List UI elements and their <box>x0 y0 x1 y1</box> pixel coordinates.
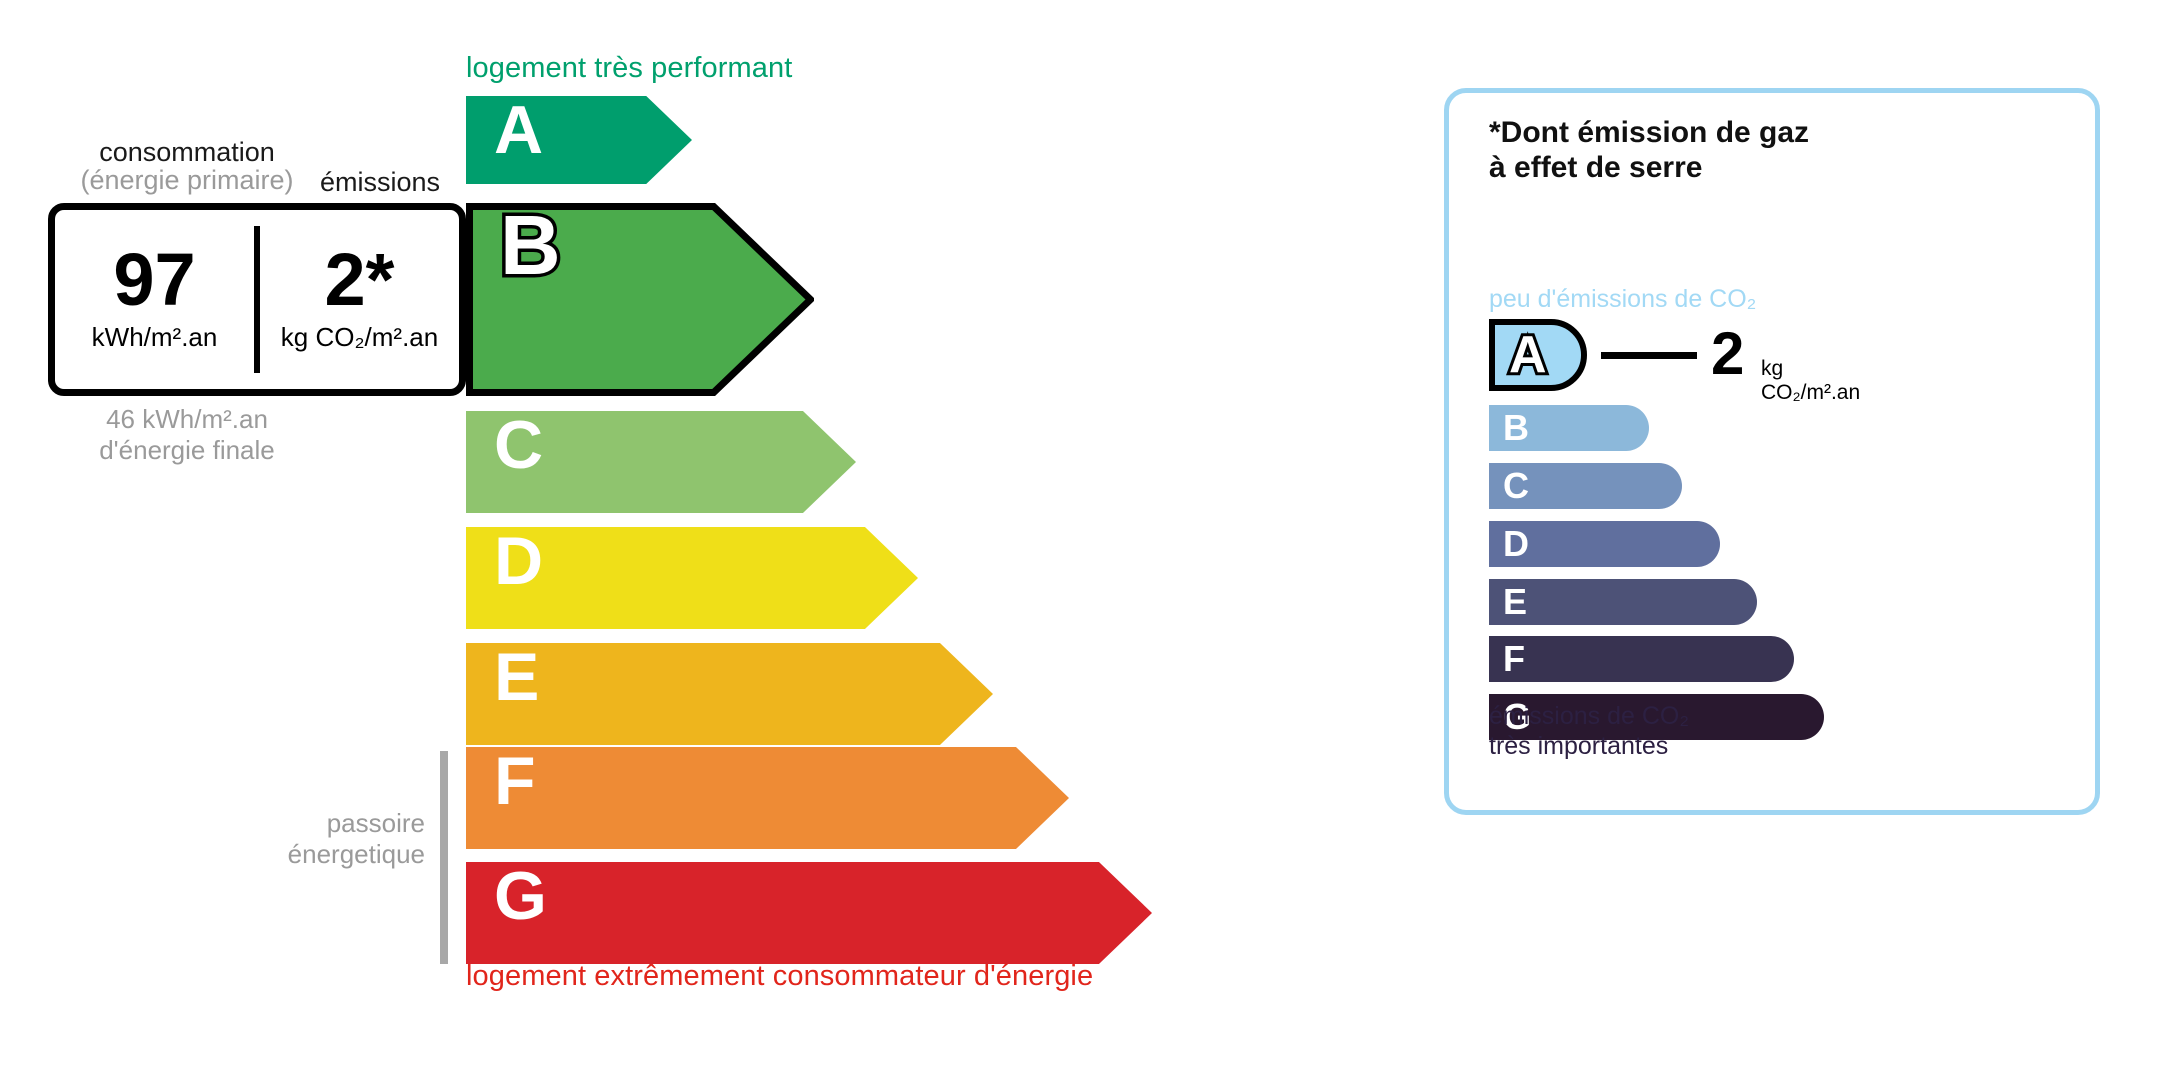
energy-band-shape-e <box>466 643 993 745</box>
consumption-value-cell: 97 kWh/m².an <box>55 210 254 389</box>
co2-title-line2: à effet de serre <box>1489 150 1809 185</box>
co2-bar-letter-a: A <box>1509 329 1547 381</box>
co2-value-unit: kg CO₂/m².an <box>1761 357 1860 405</box>
energy-band-letter-b: B <box>500 198 561 292</box>
energy-band-letter-c: C <box>494 407 543 483</box>
passoire-label-line2: énergetique <box>225 839 425 870</box>
emissions-unit: kg CO₂/m².an <box>281 322 438 353</box>
co2-bar-letter-d: D <box>1503 526 1529 562</box>
energy-band-b: B <box>466 203 814 396</box>
energy-band-letter-d: D <box>494 523 543 599</box>
co2-active-row: A2kg CO₂/m².an <box>1489 319 1587 391</box>
consumption-header-line2: (énergie primaire) <box>62 166 312 194</box>
energy-band-c: C <box>466 411 856 513</box>
energy-band-letter-a: A <box>494 92 543 168</box>
energy-band-e: E <box>466 643 993 745</box>
energy-band-f: F <box>466 747 1069 849</box>
co2-bar-letter-e: E <box>1503 584 1527 620</box>
co2-emissions-panel: *Dont émission de gaz à effet de serre p… <box>1444 88 2100 815</box>
energy-band-letter-g: G <box>494 858 547 934</box>
co2-bottom-caption-line1: émissions de CO₂ <box>1489 701 1689 731</box>
co2-title-line1: *Dont émission de gaz <box>1489 115 1809 150</box>
co2-bar-d: D <box>1489 521 1720 567</box>
co2-bar-c: C <box>1489 463 1682 509</box>
final-energy-line1: 46 kWh/m².an <box>62 404 312 435</box>
energy-band-letter-e: E <box>494 639 539 715</box>
final-energy-line2: d'énergie finale <box>62 435 312 466</box>
energy-band-d: D <box>466 527 918 629</box>
passoire-marker-bar <box>440 751 448 964</box>
final-energy-note: 46 kWh/m².an d'énergie finale <box>62 404 312 465</box>
emissions-value: 2* <box>325 246 395 314</box>
co2-panel-title: *Dont émission de gaz à effet de serre <box>1489 115 1809 186</box>
energy-band-a: A <box>466 96 692 184</box>
co2-bar-a: A <box>1489 319 1587 391</box>
co2-top-caption: peu d'émissions de CO₂ <box>1489 285 1756 314</box>
consumption-unit: kWh/m².an <box>92 322 218 353</box>
energy-band-shape-g <box>466 862 1152 964</box>
passoire-label-line1: passoire <box>225 808 425 839</box>
value-box: 97 kWh/m².an 2* kg CO₂/m².an <box>48 203 466 396</box>
consumption-header-line1: consommation <box>99 137 275 167</box>
energy-band-shape-f <box>466 747 1069 849</box>
consumption-header: consommation (énergie primaire) <box>62 138 312 194</box>
co2-leader-line <box>1601 352 1697 359</box>
energy-performance-scale: logement très performant consommation (é… <box>0 0 1320 1079</box>
emissions-value-cell: 2* kg CO₂/m².an <box>260 210 459 389</box>
scale-top-caption: logement très performant <box>466 52 792 85</box>
co2-bar-letter-c: C <box>1503 468 1529 504</box>
scale-bottom-caption: logement extrêmement consommateur d'éner… <box>466 960 1093 993</box>
co2-bar-letter-f: F <box>1503 641 1525 677</box>
energy-band-g: G <box>466 862 1152 964</box>
co2-bar-b: B <box>1489 405 1649 451</box>
passoire-label: passoire énergetique <box>225 808 425 870</box>
emissions-header: émissions <box>300 167 460 198</box>
co2-value: 2 <box>1711 321 1744 387</box>
co2-bottom-caption-line2: très importantes <box>1489 731 1689 761</box>
energy-band-letter-f: F <box>494 743 536 819</box>
co2-bar-letter-b: B <box>1503 410 1529 446</box>
consumption-value: 97 <box>113 246 195 314</box>
co2-bottom-caption: émissions de CO₂ très importantes <box>1489 701 1689 761</box>
co2-bar-e: E <box>1489 579 1757 625</box>
co2-bar-f: F <box>1489 636 1794 682</box>
